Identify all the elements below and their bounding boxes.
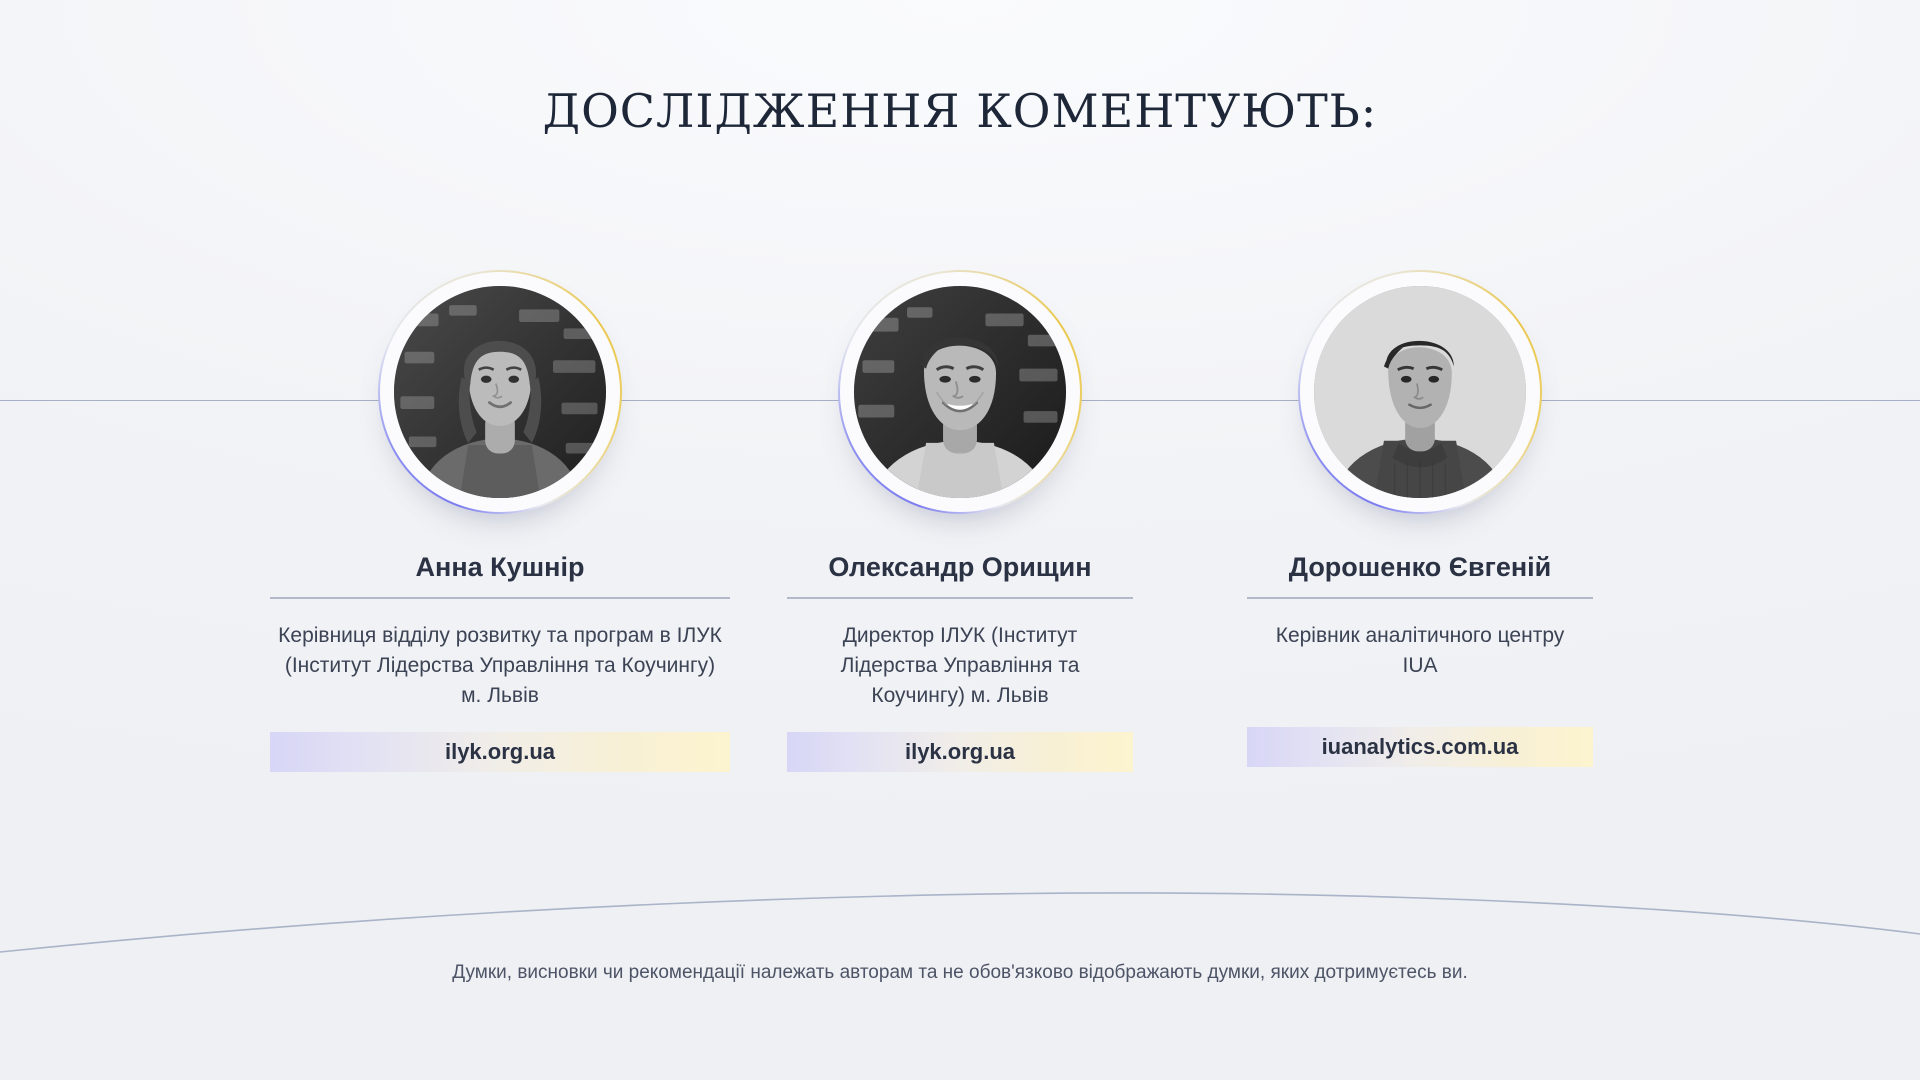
avatar-photo [854, 286, 1066, 498]
expert-card: Дорошенко Євгеній Керівник аналітичного … [1190, 270, 1650, 767]
name-divider [270, 597, 730, 599]
expert-role: Керівниця відділу розвитку та програм в … [270, 621, 730, 710]
expert-role: Керівник аналітичного центру IUA [1250, 621, 1590, 681]
expert-text-block: Олександр Орищин Директор ІЛУК (Інститут… [730, 514, 1190, 772]
expert-website-link[interactable]: ilyk.org.ua [270, 732, 730, 772]
name-divider [1247, 597, 1593, 599]
expert-card: Олександр Орищин Директор ІЛУК (Інститут… [730, 270, 1190, 772]
avatar-photo [394, 286, 606, 498]
avatar-ring-inner [840, 272, 1080, 512]
disclaimer-text: Думки, висновки чи рекомендації належать… [0, 962, 1920, 984]
expert-role: Директор ІЛУК (Інститут Лідерства Управл… [790, 621, 1130, 710]
avatar [1298, 270, 1542, 514]
role-slot: Керівниця відділу розвитку та програм в … [270, 599, 730, 710]
expert-website-link[interactable]: iuanalytics.com.ua [1247, 727, 1593, 767]
expert-text-block: Анна Кушнір Керівниця відділу розвитку т… [270, 514, 730, 772]
page-title: ДОСЛІДЖЕННЯ КОМЕНТУЮТЬ: [0, 84, 1920, 138]
expert-name: Олександр Орищин [828, 552, 1091, 583]
expert-website-link[interactable]: ilyk.org.ua [787, 732, 1133, 772]
expert-card: Анна Кушнір Керівниця відділу розвитку т… [270, 270, 730, 772]
avatar [378, 270, 622, 514]
role-slot: Керівник аналітичного центру IUA [1190, 599, 1650, 705]
avatar-ring-inner [1300, 272, 1540, 512]
expert-text-block: Дорошенко Євгеній Керівник аналітичного … [1190, 514, 1650, 767]
avatar [838, 270, 1082, 514]
experts-row: Анна Кушнір Керівниця відділу розвитку т… [0, 270, 1920, 772]
avatar-ring-inner [380, 272, 620, 512]
expert-name: Анна Кушнір [416, 552, 585, 583]
avatar-photo [1314, 286, 1526, 498]
name-divider [787, 597, 1133, 599]
role-slot: Директор ІЛУК (Інститут Лідерства Управл… [730, 599, 1190, 710]
expert-name: Дорошенко Євгеній [1289, 552, 1552, 583]
